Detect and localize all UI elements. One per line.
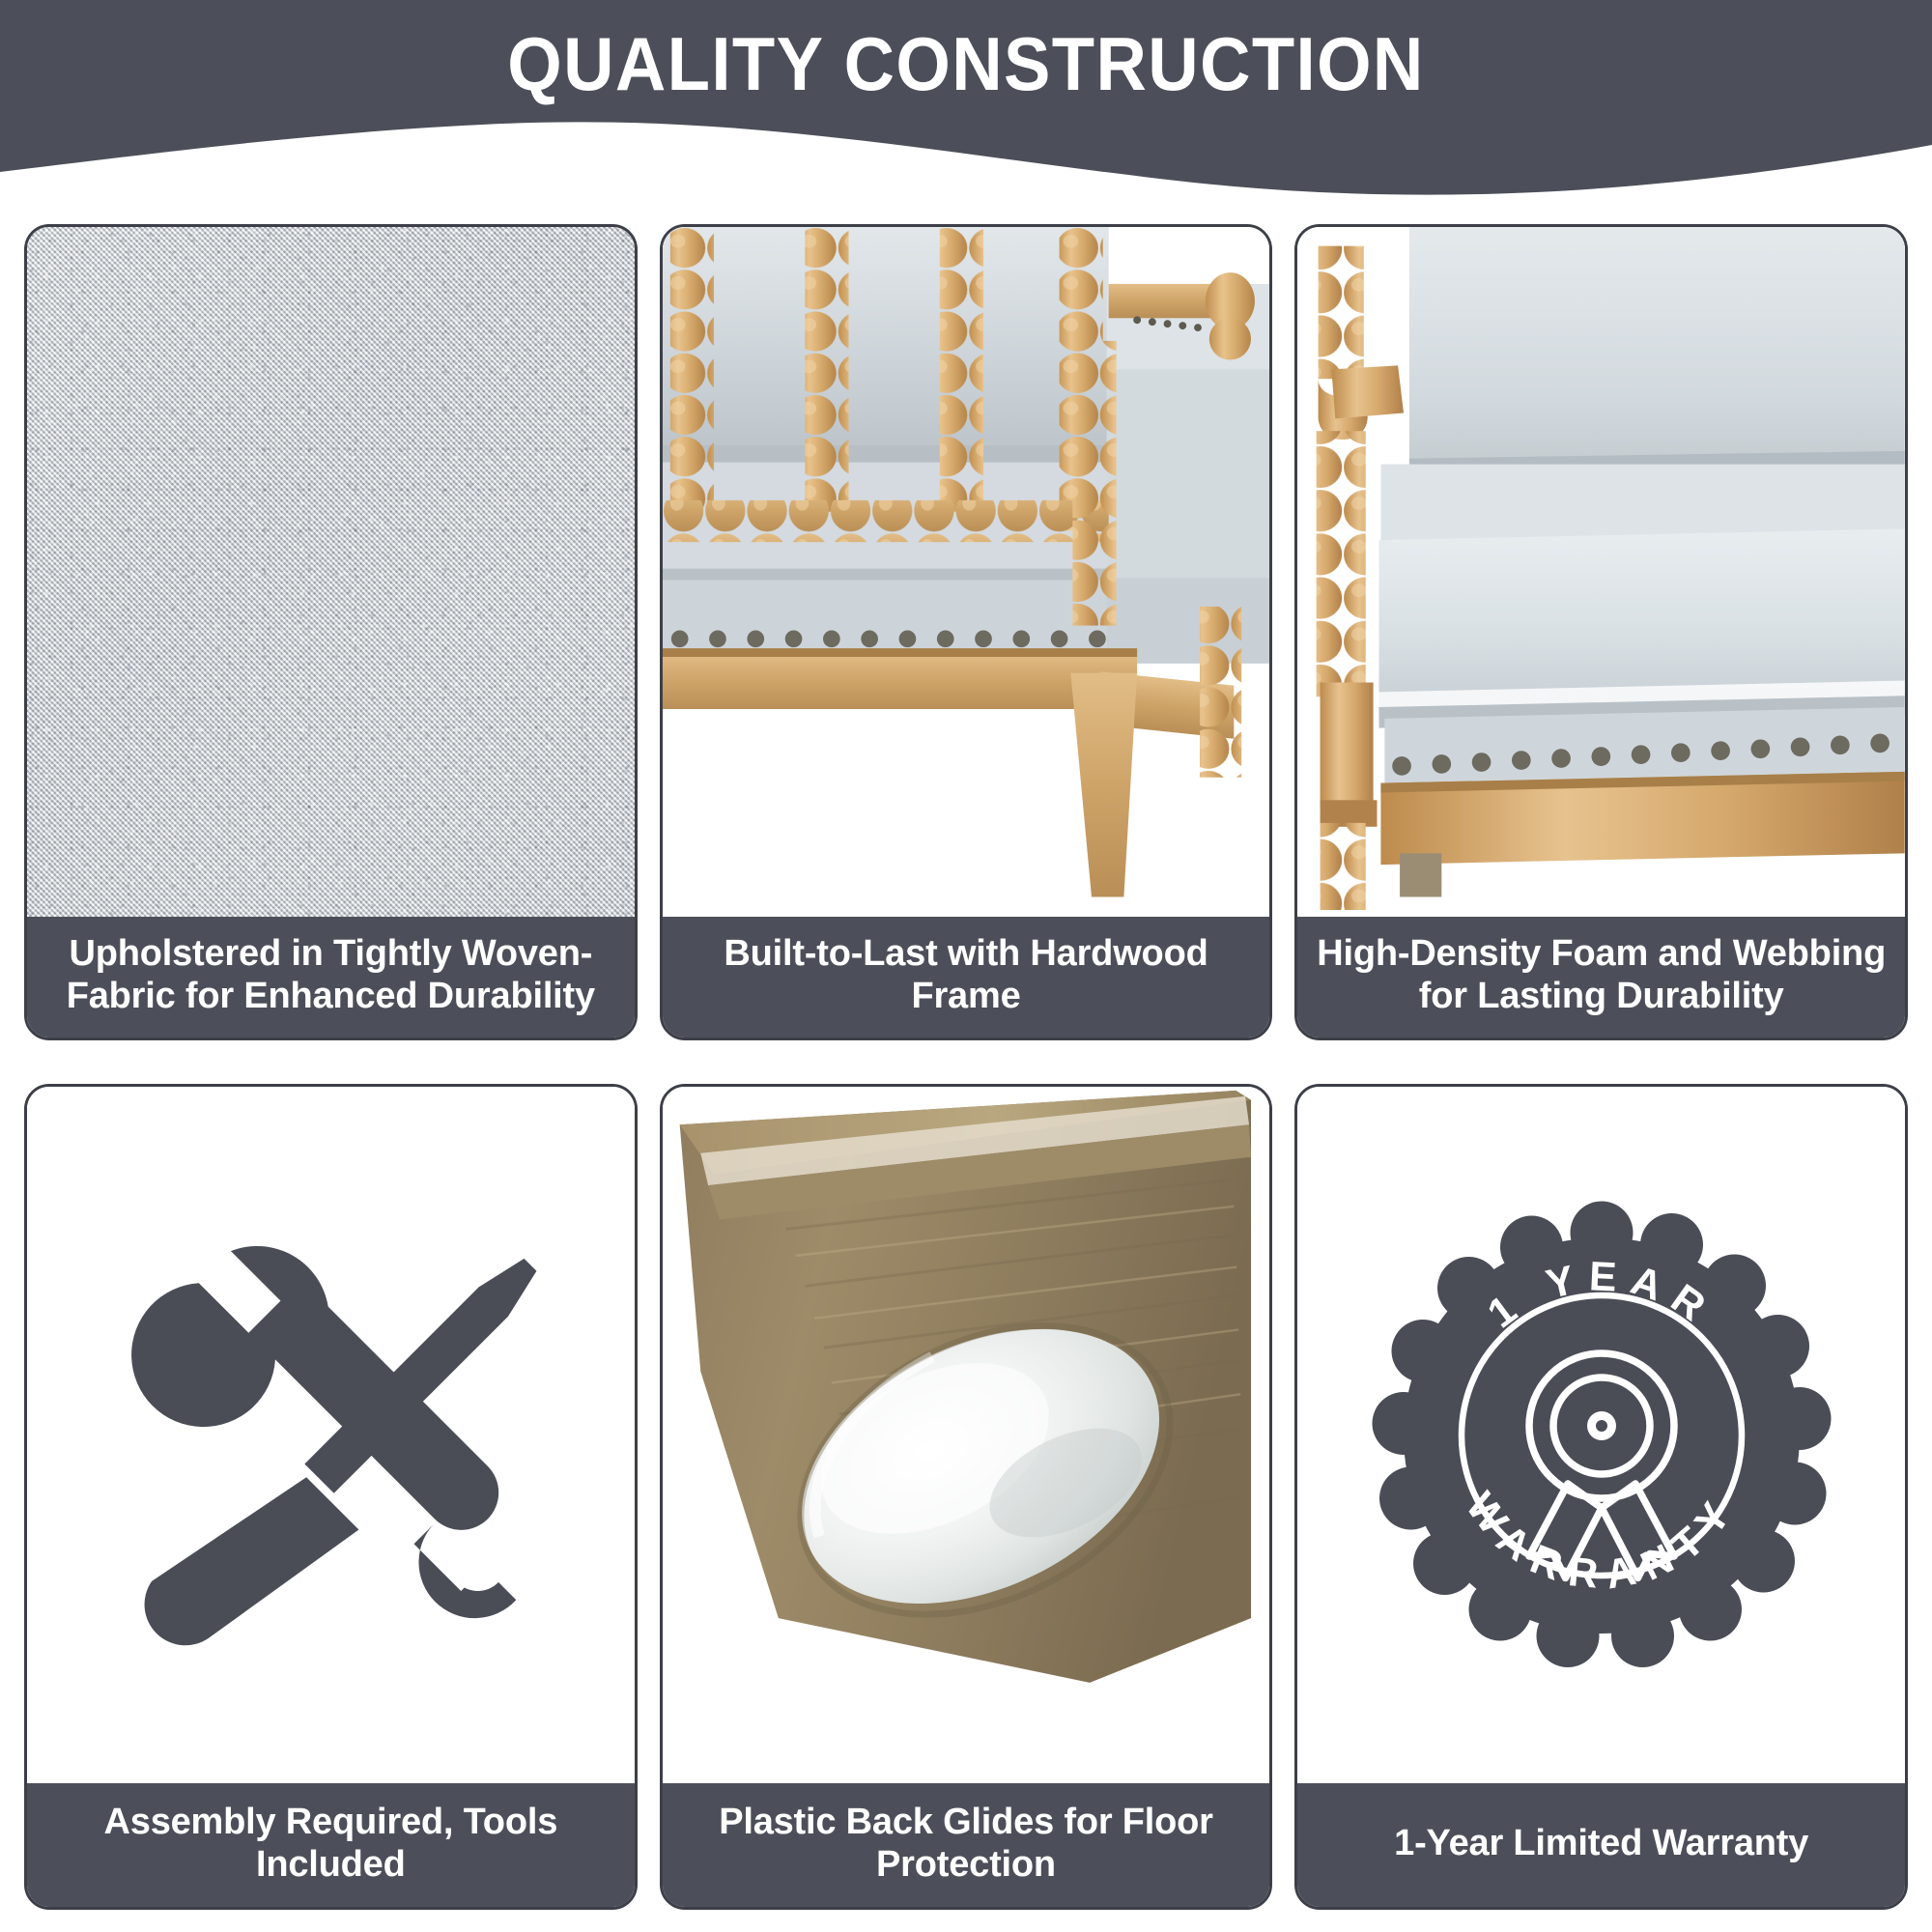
page-title: QUALITY CONSTRUCTION [68, 21, 1864, 108]
infographic-page: QUALITY CONSTRUCTION Upholstered in Tigh… [0, 0, 1932, 1932]
fabric-grain-overlay [27, 227, 635, 917]
cushion-detail-illustration [1297, 227, 1905, 910]
feature-card-assembly: Assembly Required, Tools Included [24, 1084, 638, 1910]
warranty-seal-icon: 1 YEAR WARRANTY [1360, 1194, 1843, 1677]
plastic-glide-on-leg-photo [663, 1087, 1270, 1783]
chair-frame-illustration [663, 227, 1270, 910]
card-caption-assembly: Assembly Required, Tools Included [27, 1783, 635, 1907]
card-caption-hardwood-frame: Built-to-Last with Hardwood Frame [663, 917, 1270, 1037]
woven-fabric-swatch-image [27, 227, 635, 917]
glide-illustration [663, 1087, 1270, 1770]
warranty-icon-pane: 1 YEAR WARRANTY [1297, 1087, 1905, 1783]
feature-card-glides: Plastic Back Glides for Floor Protection [660, 1084, 1273, 1910]
feature-card-warranty: 1 YEAR WARRANTY 1-Year Limited Warranty [1294, 1084, 1908, 1910]
feature-card-foam-webbing: High-Density Foam and Webbing for Lastin… [1294, 224, 1908, 1040]
feature-card-hardwood-frame: Built-to-Last with Hardwood Frame [660, 224, 1273, 1040]
spindle-chair-frame-photo [663, 227, 1270, 917]
feature-card-grid: Upholstered in Tightly Woven-Fabric for … [24, 224, 1908, 1910]
card-caption-warranty: 1-Year Limited Warranty [1297, 1783, 1905, 1907]
card-caption-foam-webbing: High-Density Foam and Webbing for Lastin… [1297, 917, 1905, 1037]
card-caption-glides: Plastic Back Glides for Floor Protection [663, 1783, 1270, 1907]
assembly-icon-pane [27, 1087, 635, 1783]
wrench-screwdriver-icon [108, 1213, 553, 1658]
card-caption-fabric: Upholstered in Tightly Woven-Fabric for … [27, 917, 635, 1037]
feature-card-fabric: Upholstered in Tightly Woven-Fabric for … [24, 224, 638, 1040]
chair-cushion-detail-photo [1297, 227, 1905, 917]
page-header: QUALITY CONSTRUCTION [0, 0, 1932, 203]
